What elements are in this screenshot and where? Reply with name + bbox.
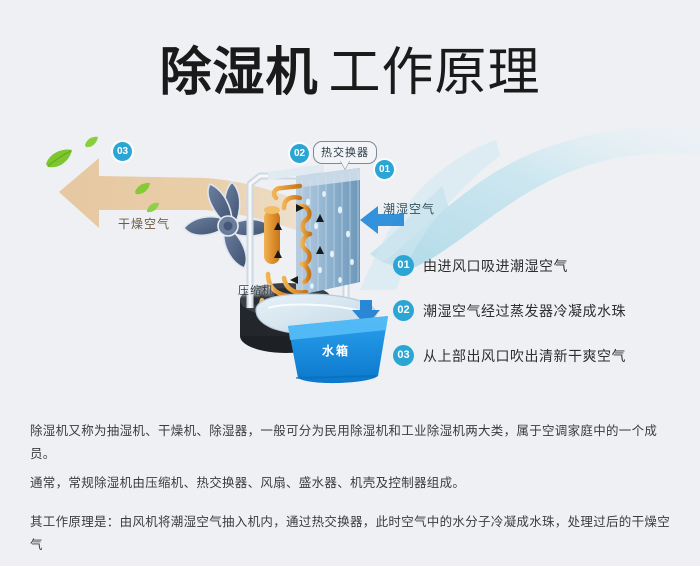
step-item-02: 02 潮湿空气经过蒸发器冷凝成水珠: [393, 300, 693, 321]
page-title-secondary: 工作原理: [329, 43, 541, 103]
step-item-03: 03 从上部出风口吹出清新干爽空气: [393, 345, 693, 366]
step-item-01: 01 由进风口吸进潮湿空气: [393, 255, 693, 276]
step-number-01: 01: [393, 255, 414, 276]
page-title-primary: 除湿机: [159, 43, 318, 103]
step-text-03: 从上部出风口吹出清新干爽空气: [423, 346, 626, 366]
description-p1-line2: 通常，常规除湿机由压缩机、热交换器、风扇、盛水器、机壳及控制器组成。: [30, 472, 675, 495]
description-p2-line1: 其工作原理是：由风机将潮湿空气抽入机内，通过热交换器，此时空气中的水分子冷凝成水…: [30, 511, 675, 557]
diagram-badge-03: 03: [113, 142, 132, 161]
description-block: 除湿机又称为抽湿机、干燥机、除湿器，一般可分为民用除湿机和工业除湿机两大类，属于…: [30, 420, 675, 566]
step-text-01: 由进风口吸进潮湿空气: [423, 256, 568, 276]
heat-exchanger-callout-tail: [340, 160, 350, 169]
step-number-03: 03: [393, 345, 414, 366]
description-p1-line1: 除湿机又称为抽湿机、干燥机、除湿器，一般可分为民用除湿机和工业除湿机两大类，属于…: [30, 420, 675, 466]
step-number-02: 02: [393, 300, 414, 321]
page-title: 除湿机工作原理: [0, 30, 700, 105]
dry-air-label: 干燥空气: [118, 215, 170, 232]
dehumidifier-body: [228, 150, 408, 390]
leaf-icon-large: [44, 148, 74, 170]
step-text-02: 潮湿空气经过蒸发器冷凝成水珠: [423, 301, 626, 321]
leaf-icon-small: [84, 136, 99, 149]
compressor-label: 压缩机: [238, 282, 274, 298]
leaf-icon-tiny: [146, 202, 160, 214]
diagram-badge-01: 01: [375, 160, 394, 179]
leaf-icon-mid: [134, 182, 151, 196]
water-tank-label: 水箱: [322, 342, 350, 359]
steps-list: 01 由进风口吸进潮湿空气 02 潮湿空气经过蒸发器冷凝成水珠 03 从上部出风…: [393, 255, 693, 390]
diagram-badge-02: 02: [290, 144, 309, 163]
page-root: 除湿机工作原理: [0, 0, 700, 566]
humid-air-label: 潮湿空气: [383, 200, 435, 217]
